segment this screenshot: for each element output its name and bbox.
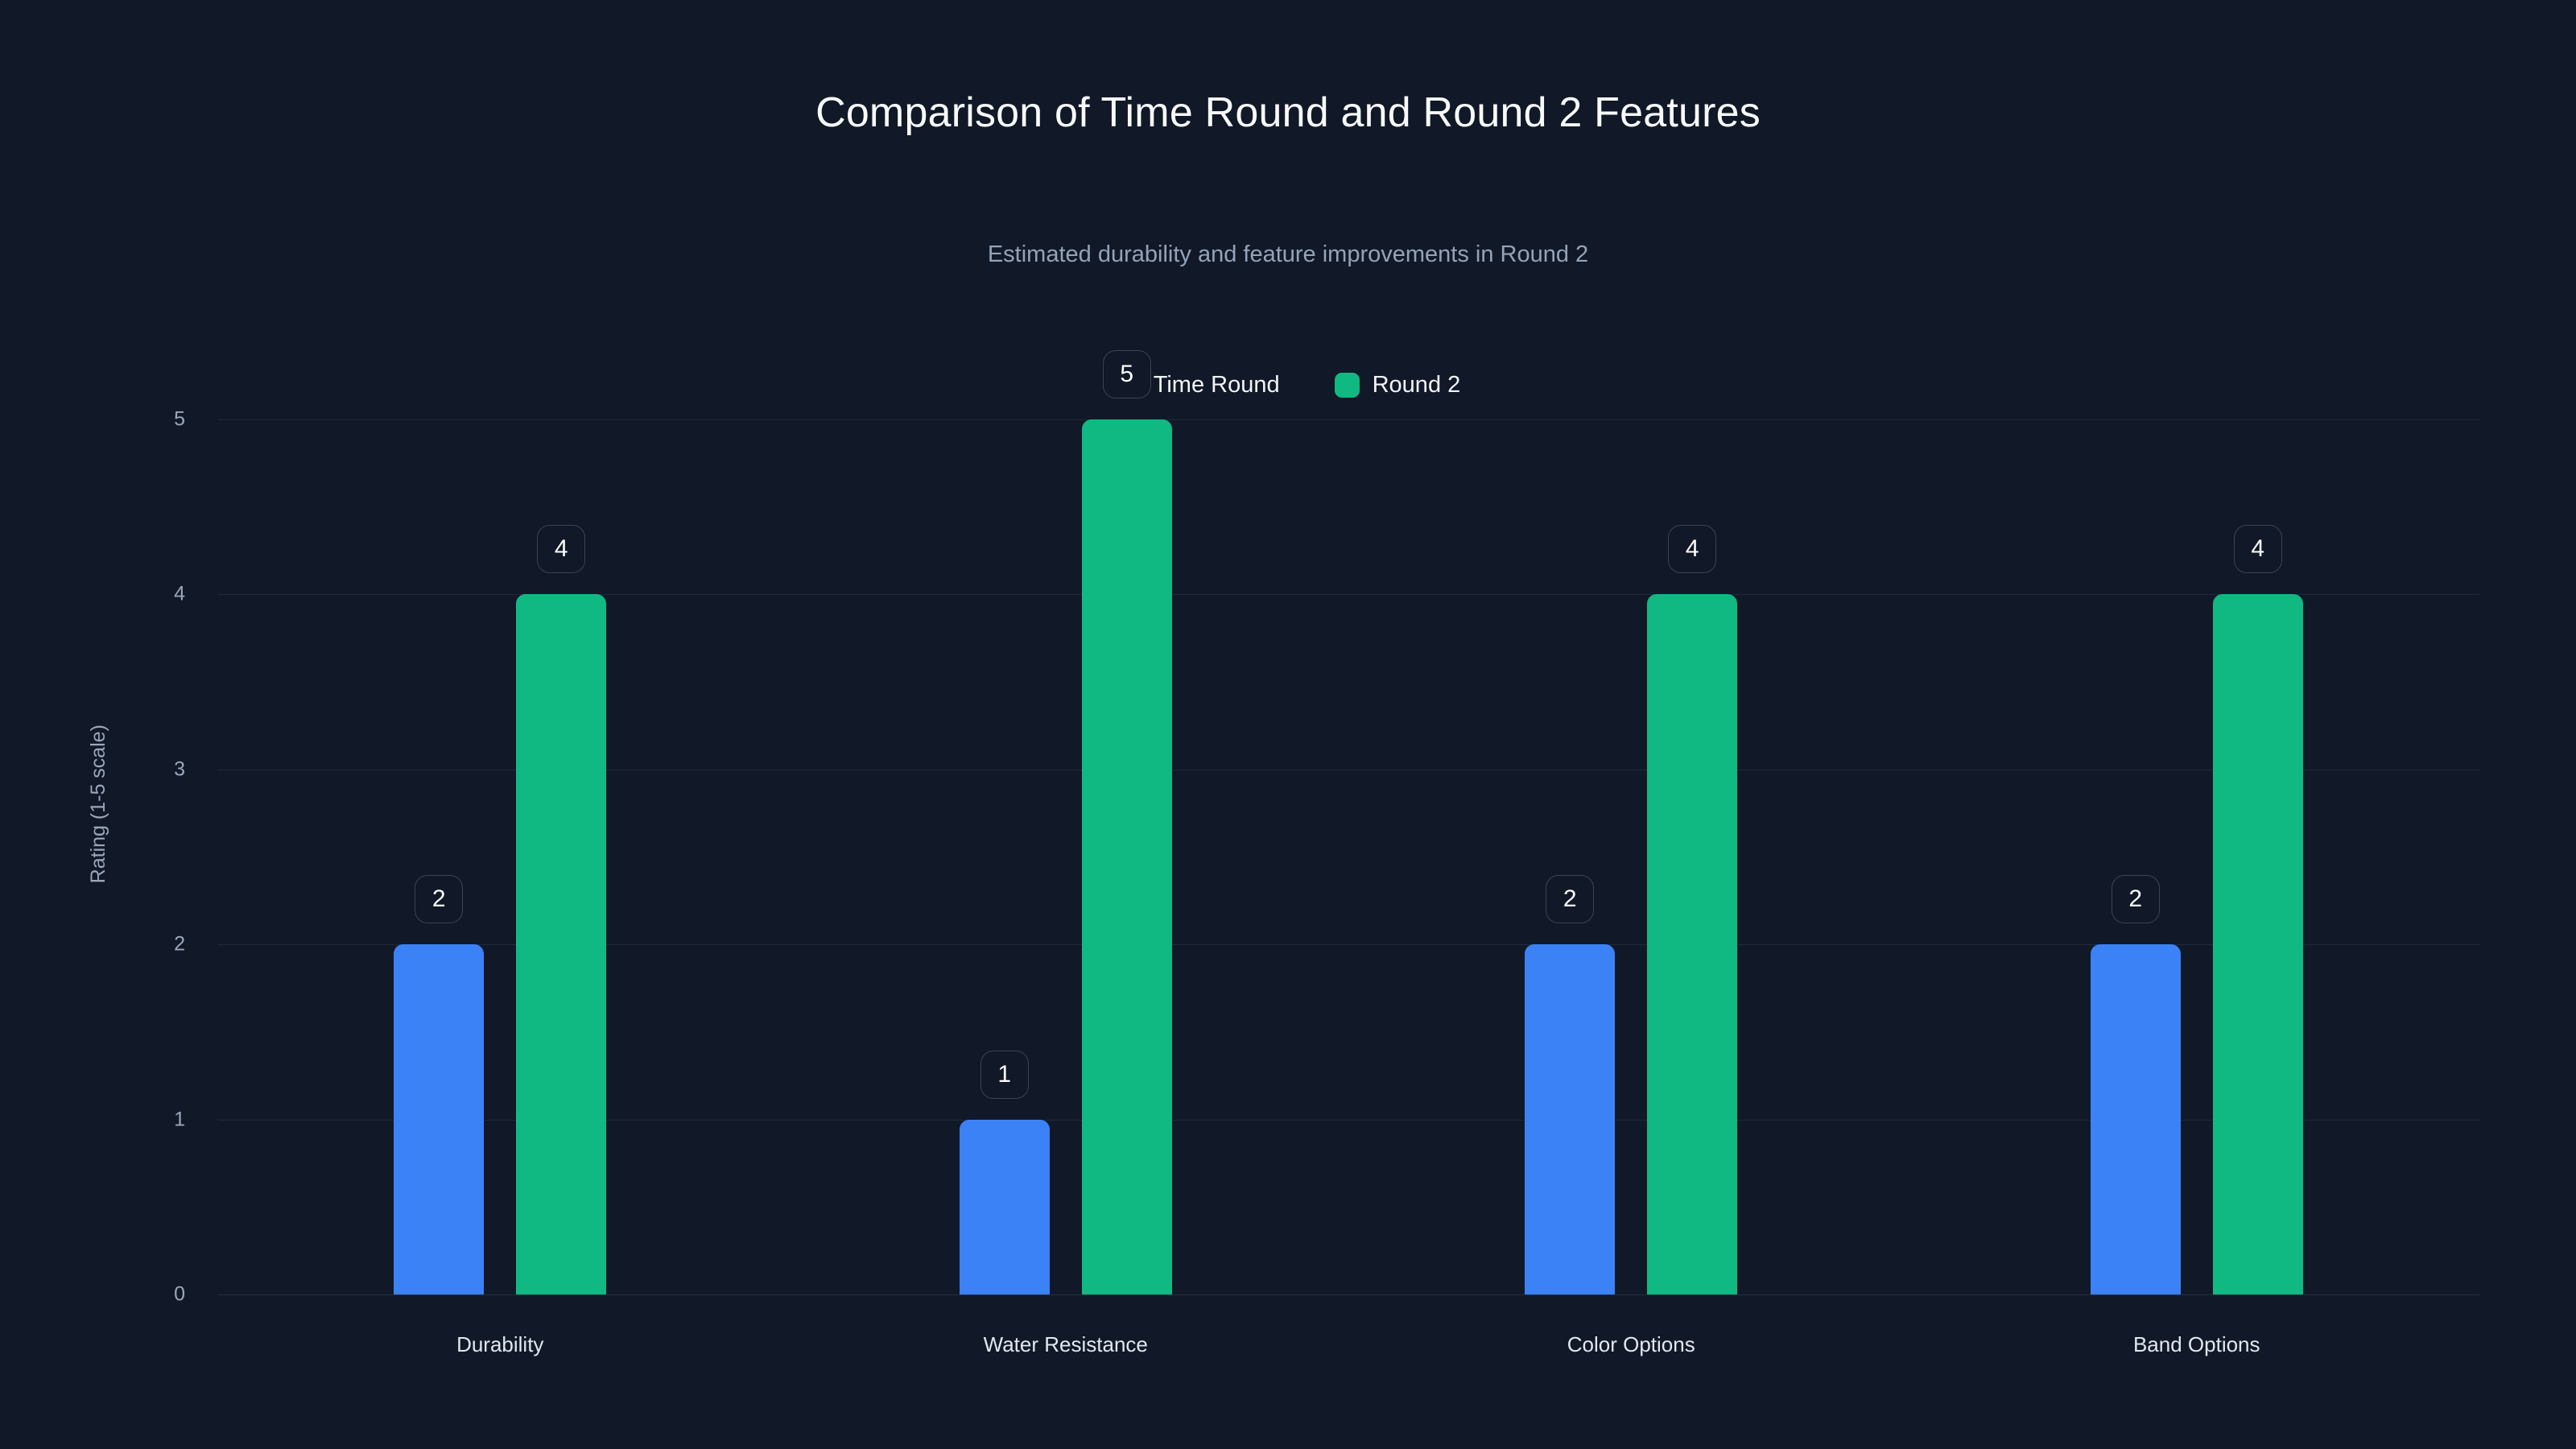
y-axis-title: Rating (1-5 scale): [87, 724, 110, 883]
x-axis-label-band-options: Band Options: [2133, 1332, 2260, 1357]
y-axis-tick-label: 2: [89, 933, 185, 956]
chart-legend: Time RoundRound 2: [0, 372, 2576, 398]
bar-color-options-round-2[interactable]: [1647, 594, 1737, 1294]
x-axis-label-water-resistance: Water Resistance: [984, 1332, 1148, 1357]
data-label-badge: 4: [537, 525, 585, 573]
bar-color-options-time-round[interactable]: [1525, 944, 1615, 1294]
data-label-badge: 2: [1546, 875, 1594, 923]
bar-durability-time-round[interactable]: [394, 944, 484, 1294]
data-label-badge: 4: [1668, 525, 1716, 573]
legend-label: Time Round: [1154, 372, 1280, 398]
data-label-badge: 1: [980, 1051, 1029, 1099]
legend-swatch-icon: [1335, 373, 1360, 398]
chart-canvas: Comparison of Time Round and Round 2 Fea…: [0, 0, 2576, 1449]
data-label-badge: 4: [2234, 525, 2282, 573]
y-axis-tick-label: 3: [89, 758, 185, 781]
data-label-badge: 5: [1103, 350, 1151, 398]
y-axis-tick-label: 1: [89, 1108, 185, 1131]
page-title: Comparison of Time Round and Round 2 Fea…: [0, 89, 2576, 137]
bar-durability-round-2[interactable]: [516, 594, 606, 1294]
y-axis-tick-label: 4: [89, 583, 185, 606]
gridline-0: [217, 1294, 2479, 1295]
data-label-badge: 2: [2112, 875, 2160, 923]
gridline-5: [217, 419, 2479, 420]
y-axis-tick-label: 0: [89, 1283, 185, 1307]
bar-band-options-time-round[interactable]: [2091, 944, 2181, 1294]
x-axis-label-color-options: Color Options: [1567, 1332, 1695, 1357]
bar-water-resistance-round-2[interactable]: [1082, 419, 1172, 1294]
legend-label: Round 2: [1373, 372, 1461, 398]
x-axis-label-durability: Durability: [456, 1332, 543, 1357]
legend-item-2[interactable]: Round 2: [1335, 372, 1461, 398]
data-label-badge: 2: [415, 875, 463, 923]
bar-band-options-round-2[interactable]: [2213, 594, 2303, 1294]
y-axis-tick-label: 5: [89, 408, 185, 431]
bar-water-resistance-time-round[interactable]: [960, 1120, 1050, 1294]
chart-subtitle: Estimated durability and feature improve…: [0, 242, 2576, 268]
